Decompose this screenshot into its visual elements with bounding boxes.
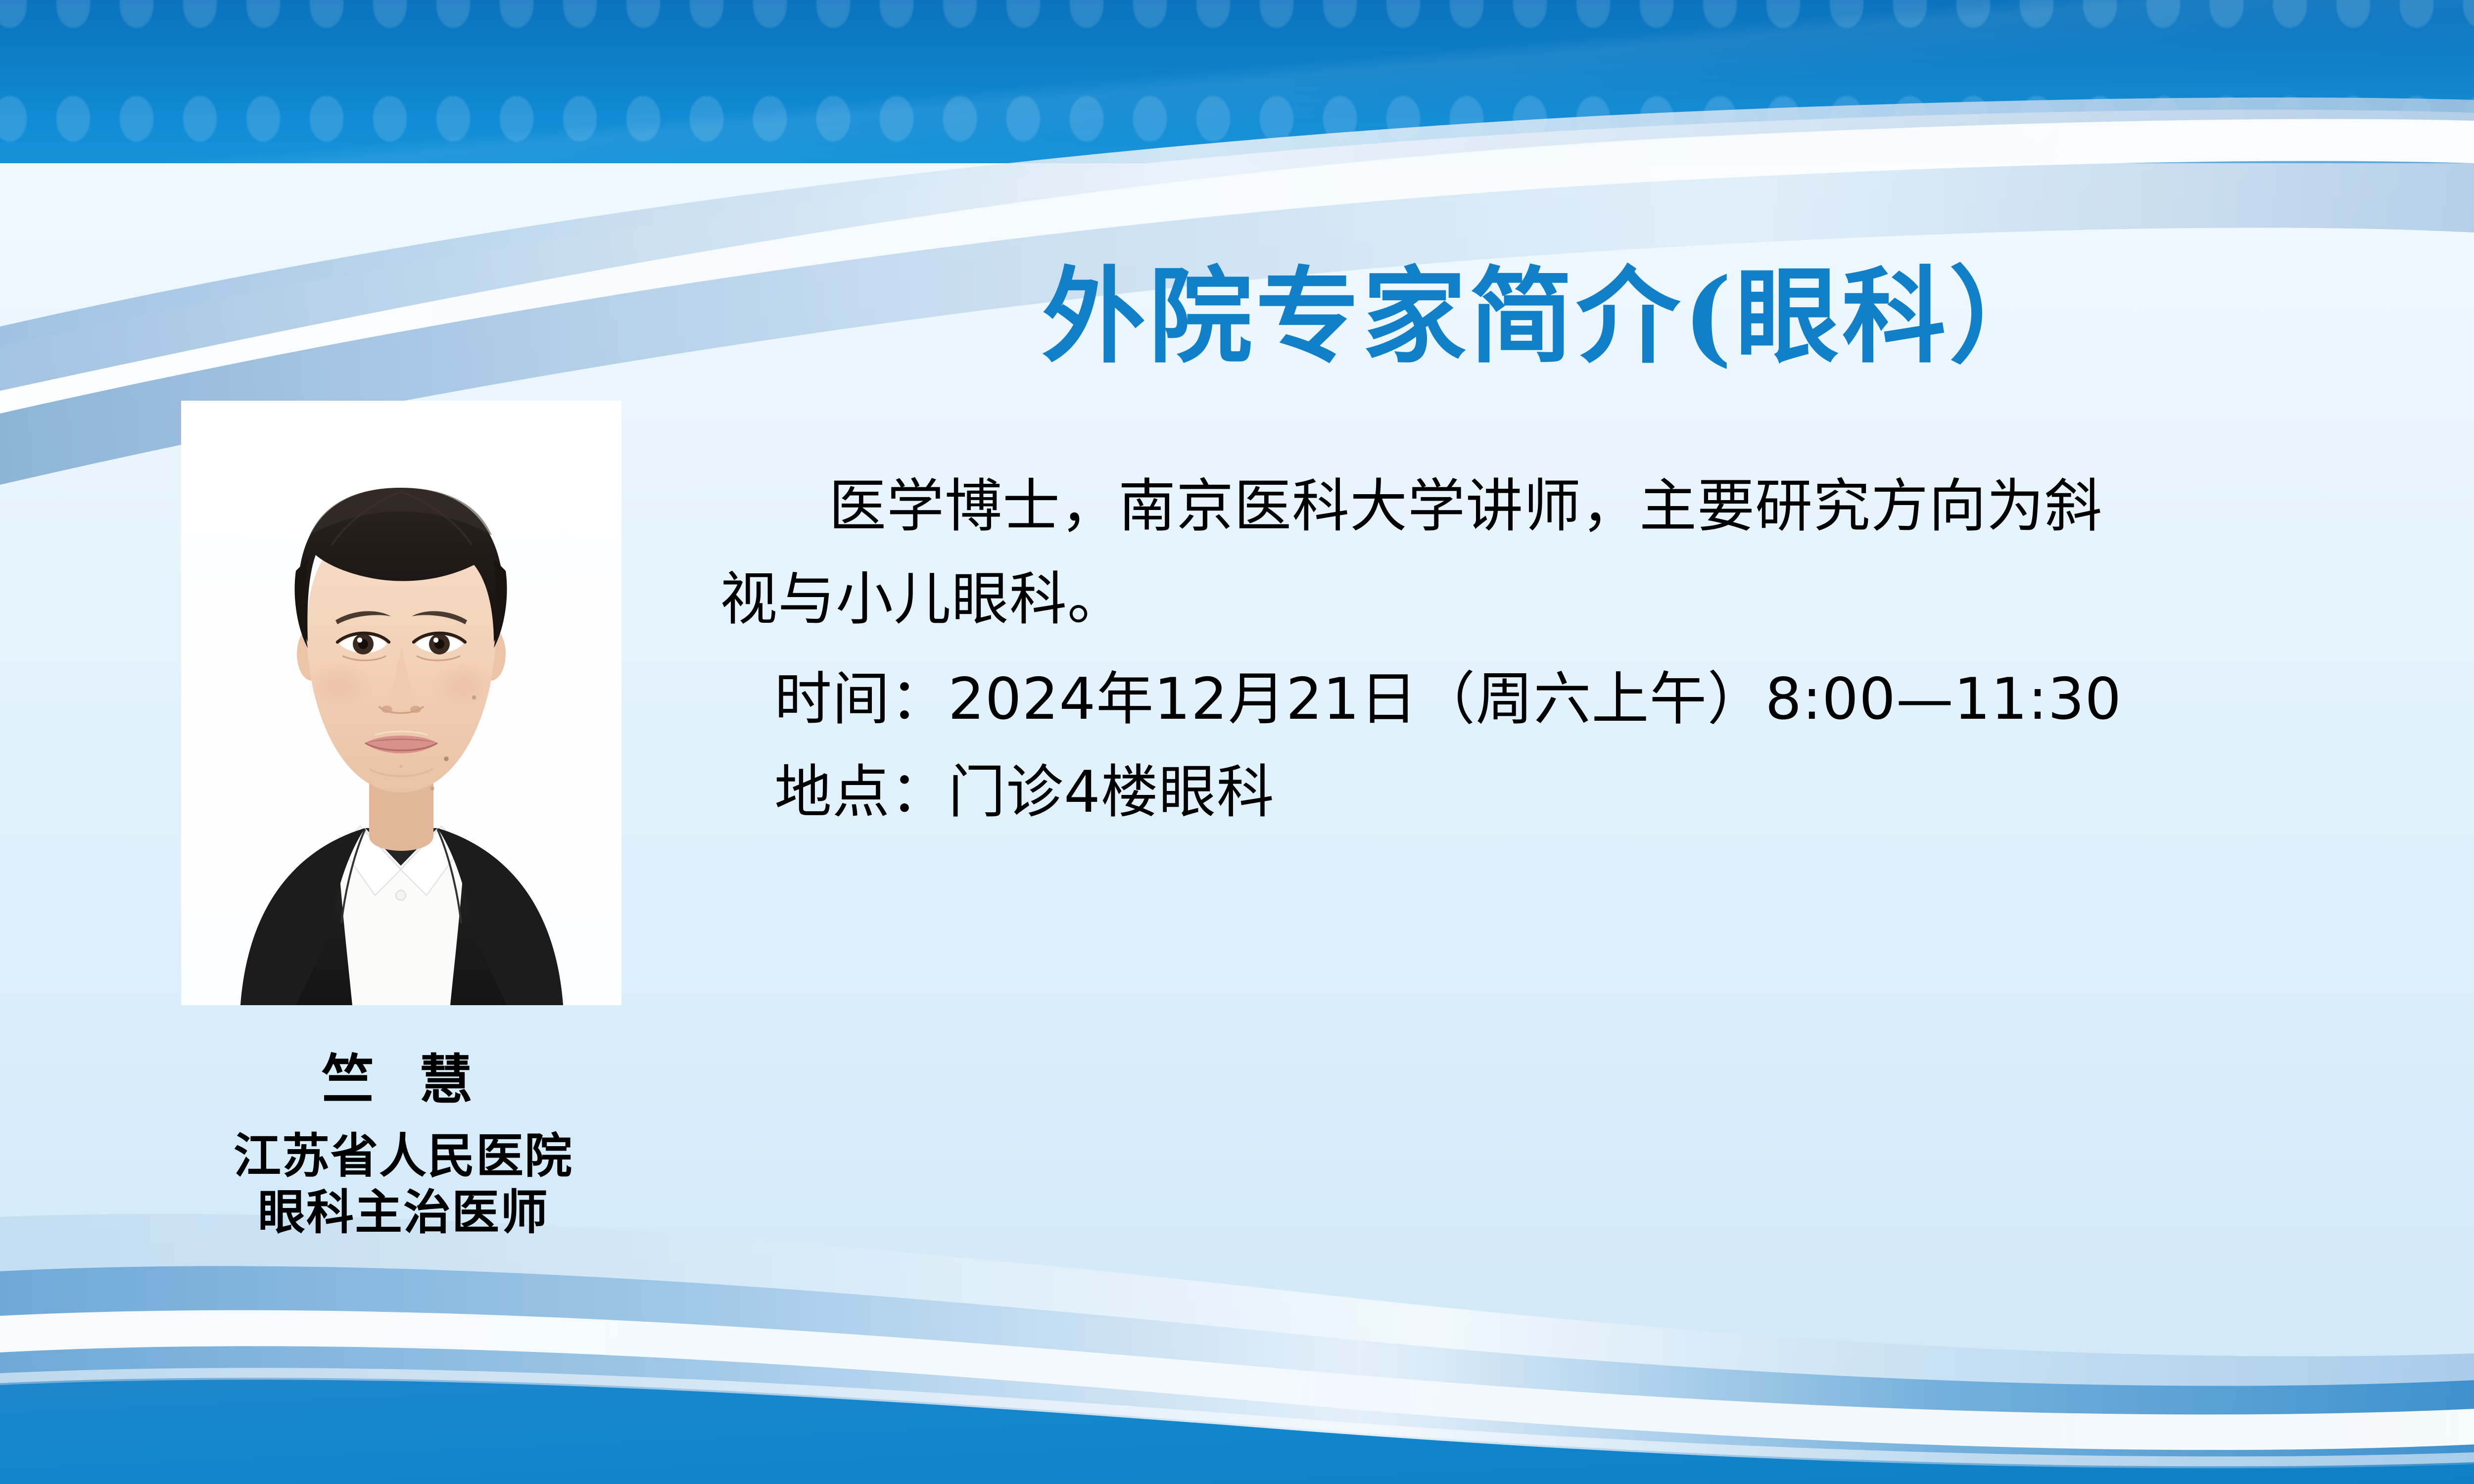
expert-profile-poster: 外院专家简介(眼科） xyxy=(0,0,2474,1484)
doctor-portrait-photo xyxy=(181,401,621,1005)
page-title: 外院专家简介(眼科） xyxy=(708,232,2390,383)
doctor-hospital: 江苏省人民医院 xyxy=(59,1128,747,1184)
bio-text-block: 医学博士，南京医科大学讲师，主要研究方向为斜 视与小儿眼科。 时间：2024年1… xyxy=(720,460,2412,839)
bio-location-line: 地点：门诊4楼眼科 xyxy=(720,746,2412,839)
bio-intro-line-1: 医学博士，南京医科大学讲师，主要研究方向为斜 xyxy=(720,460,2412,553)
bio-time-line: 时间：2024年12月21日（周六上午）8:00—11:30 xyxy=(720,653,2412,746)
doctor-caption: 竺 慧 江苏省人民医院 眼科主治医师 xyxy=(59,1049,747,1241)
doctor-department-title: 眼科主治医师 xyxy=(59,1185,747,1241)
doctor-name: 竺 慧 xyxy=(59,1049,747,1112)
doctor-photo-frame xyxy=(181,401,621,1005)
bio-intro-line-2: 视与小儿眼科。 xyxy=(720,553,2412,646)
